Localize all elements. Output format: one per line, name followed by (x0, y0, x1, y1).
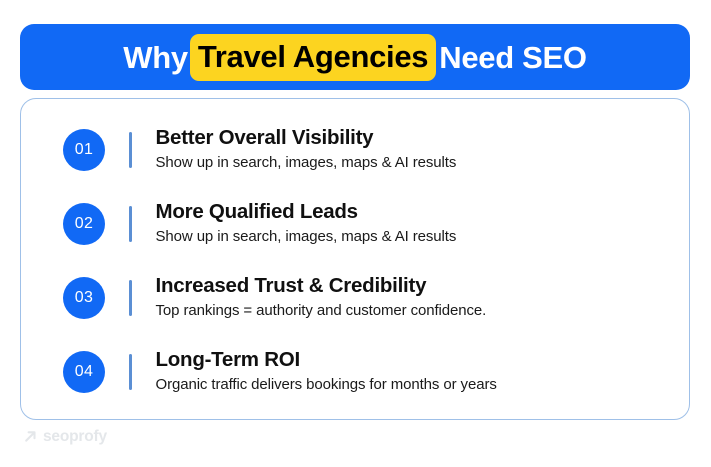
benefit-title: Increased Trust & Credibility (156, 274, 666, 298)
benefit-description: Show up in search, images, maps & AI res… (156, 153, 666, 173)
benefit-title: More Qualified Leads (156, 200, 666, 224)
brand-logo: seoprofy (24, 429, 107, 445)
benefit-title: Better Overall Visibility (156, 126, 666, 150)
benefits-list: 01 Better Overall Visibility Show up in … (21, 99, 689, 419)
page-title-suffix: Need SEO (439, 42, 586, 73)
benefit-description: Show up in search, images, maps & AI res… (156, 227, 666, 247)
list-item: 04 Long-Term ROI Organic traffic deliver… (63, 337, 665, 407)
benefit-divider (129, 354, 132, 390)
benefit-text-block: Better Overall Visibility Show up in sea… (156, 126, 666, 173)
benefit-divider (129, 132, 132, 168)
page-title: Why Travel Agencies Need SEO (123, 34, 586, 81)
list-item: 01 Better Overall Visibility Show up in … (63, 115, 665, 185)
brand-name: seoprofy (43, 429, 107, 445)
header-banner: Why Travel Agencies Need SEO (20, 24, 690, 90)
benefit-text-block: More Qualified Leads Show up in search, … (156, 200, 666, 247)
benefits-card: 01 Better Overall Visibility Show up in … (20, 98, 690, 420)
benefit-number-badge: 01 (63, 129, 105, 171)
benefit-text-block: Increased Trust & Credibility Top rankin… (156, 274, 666, 321)
benefit-number-badge: 04 (63, 351, 105, 393)
benefit-divider (129, 280, 132, 316)
page-title-prefix: Why (123, 42, 188, 73)
benefit-divider (129, 206, 132, 242)
benefit-description: Top rankings = authority and customer co… (156, 301, 666, 321)
list-item: 02 More Qualified Leads Show up in searc… (63, 189, 665, 259)
page-title-highlight: Travel Agencies (190, 34, 436, 81)
arrow-up-right-icon (24, 430, 37, 443)
benefit-number-badge: 03 (63, 277, 105, 319)
benefit-description: Organic traffic delivers bookings for mo… (156, 375, 666, 395)
benefit-text-block: Long-Term ROI Organic traffic delivers b… (156, 348, 666, 395)
benefit-title: Long-Term ROI (156, 348, 666, 372)
list-item: 03 Increased Trust & Credibility Top ran… (63, 263, 665, 333)
infographic-root: Why Travel Agencies Need SEO 01 Better O… (0, 0, 711, 467)
benefit-number-badge: 02 (63, 203, 105, 245)
